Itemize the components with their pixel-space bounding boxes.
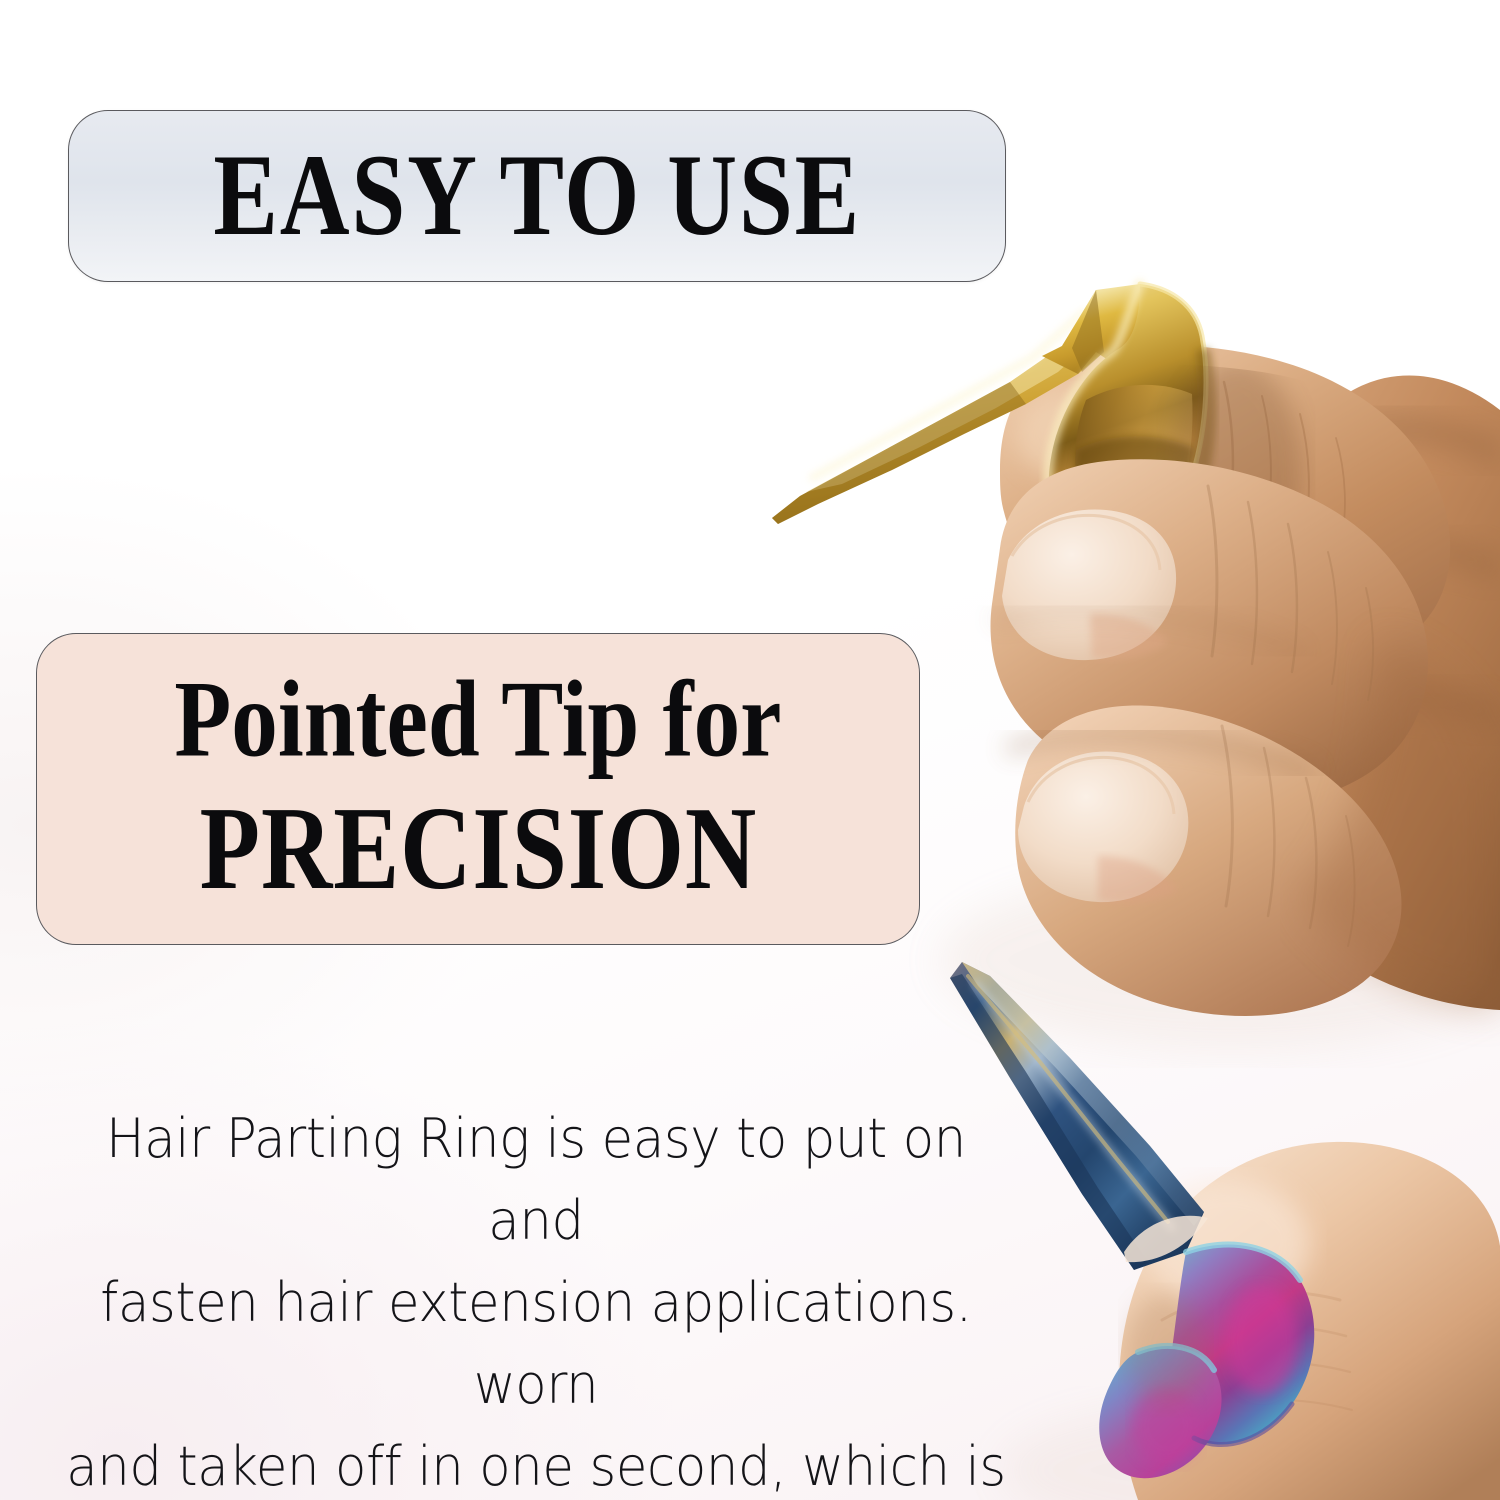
description-line-2: fasten hair extension applications. worn	[55, 1262, 1016, 1426]
description-line-3: and taken off in one second, which is	[55, 1426, 1016, 1500]
product-description: Hair Parting Ring is easy to put on and …	[30, 1098, 1042, 1500]
badge-precision-line2: PRECISION	[199, 790, 757, 909]
badge-easy-label: EASY TO USE	[213, 138, 861, 254]
badge-pointed-tip-precision: Pointed Tip for PRECISION	[36, 633, 920, 945]
badge-easy-to-use: EASY TO USE	[68, 110, 1006, 282]
badge-precision-line1: Pointed Tip for	[174, 664, 781, 773]
description-line-1: Hair Parting Ring is easy to put on and	[55, 1098, 1016, 1262]
